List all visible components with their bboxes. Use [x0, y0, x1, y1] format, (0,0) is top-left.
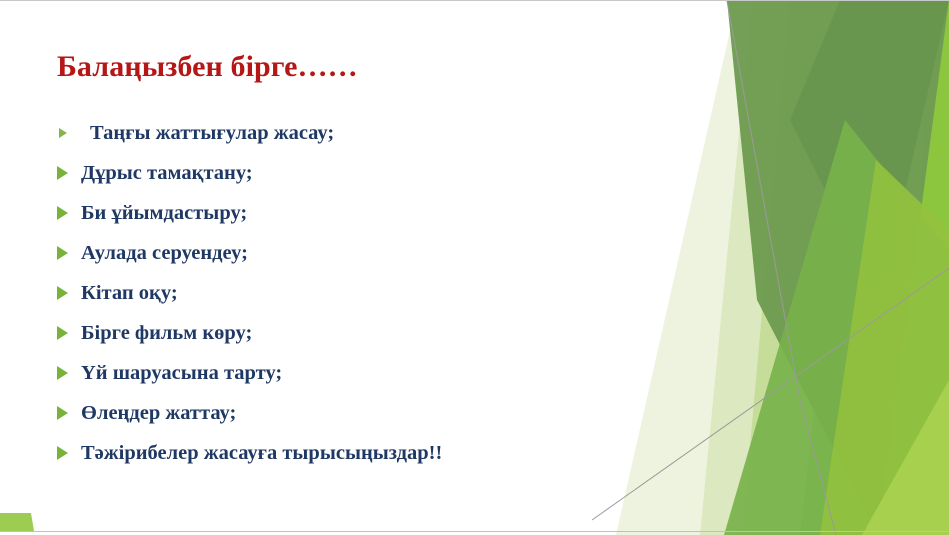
green-triangle-icon: [57, 206, 81, 220]
decor-shape-dark-wedge-top: [727, 0, 949, 535]
slide-content: Балаңызбен бірге…… Таңғы жаттығулар жаса…: [0, 0, 720, 535]
decor-shape-bright-right: [800, 0, 949, 535]
decor-shape-midlight-band: [742, 0, 949, 535]
list-item: Өлеңдер жаттау;: [57, 393, 697, 433]
list-item-label: Аулада серуендеу;: [81, 243, 248, 264]
green-triangle-icon: [57, 406, 81, 420]
decor-hairline-lower-steep: [800, 400, 836, 535]
decor-shape-mid-ascending: [724, 120, 949, 535]
list-item-label: Би ұйымдастыру;: [81, 203, 247, 224]
bullet-list: Таңғы жаттығулар жасау; Дұрыс тамақтану;…: [57, 113, 697, 473]
green-triangle-icon: [57, 246, 81, 260]
green-triangle-icon: [57, 286, 81, 300]
list-item-label: Дұрыс тамақтану;: [81, 163, 253, 184]
list-item: Би ұйымдастыру;: [57, 193, 697, 233]
green-triangle-icon: [57, 446, 81, 460]
list-item-label: Өлеңдер жаттау;: [81, 403, 236, 424]
list-item: Дұрыс тамақтану;: [57, 153, 697, 193]
list-item: Тәжірибелер жасауға тырысыңыздар!!: [57, 433, 697, 473]
green-triangle-icon: [57, 366, 81, 380]
slide-canvas: Балаңызбен бірге…… Таңғы жаттығулар жаса…: [0, 0, 949, 535]
decor-shape-dark-overlap: [790, 0, 949, 300]
decor-shape-light-wedge: [700, 0, 949, 535]
green-triangle-icon: [57, 326, 81, 340]
list-item: Бірге фильм көру;: [57, 313, 697, 353]
list-item-label: Таңғы жаттығулар жасау;: [81, 123, 334, 144]
green-triangle-icon: [57, 166, 81, 180]
decor-shape-bright-lower: [820, 160, 949, 535]
slide-title: Балаңызбен бірге……: [57, 50, 358, 84]
list-item: Таңғы жаттығулар жасау;: [57, 113, 697, 153]
decor-shape-vivid-sliver: [905, 0, 949, 535]
decor-hairline-steep: [727, 1, 800, 400]
list-item-label: Тәжірибелер жасауға тырысыңыздар!!: [81, 443, 442, 464]
list-item-label: Үй шаруасына тарту;: [81, 363, 282, 384]
list-item: Аулада серуендеу;: [57, 233, 697, 273]
list-item-label: Кітап оқу;: [81, 283, 178, 304]
green-triangle-icon: [57, 128, 81, 138]
decor-shape-bottom-sliver: [862, 380, 949, 535]
list-item: Үй шаруасына тарту;: [57, 353, 697, 393]
list-item-label: Бірге фильм көру;: [81, 323, 252, 344]
list-item: Кітап оқу;: [57, 273, 697, 313]
